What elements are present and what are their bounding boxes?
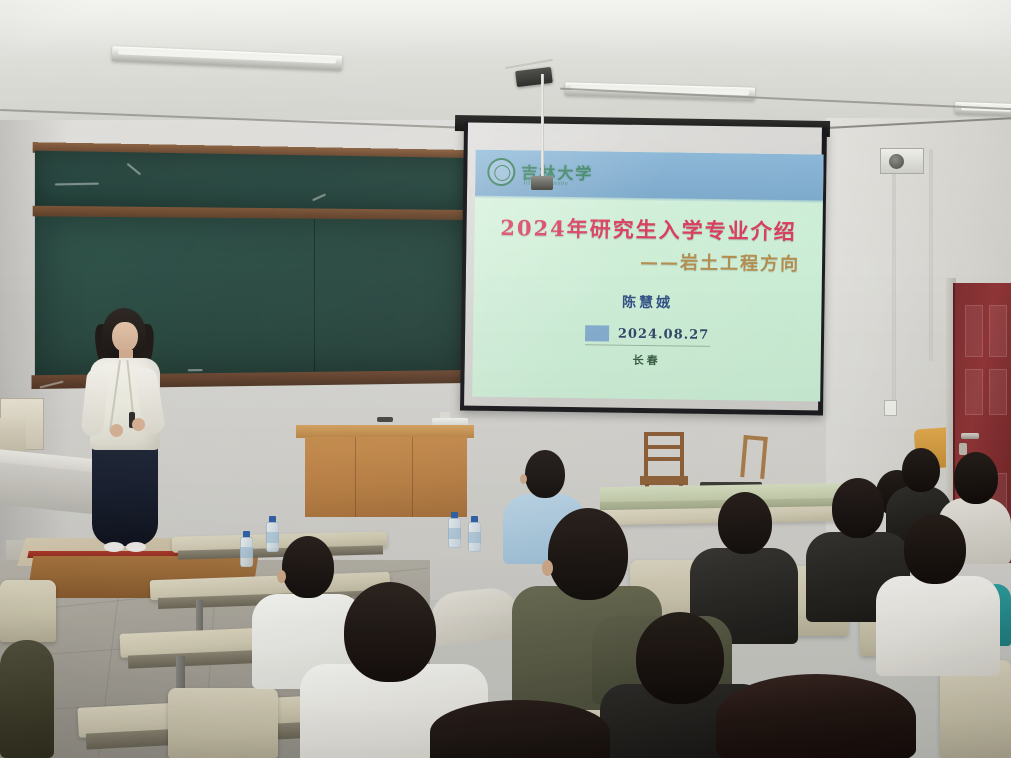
slide-date: 2024.08.27	[618, 326, 710, 342]
audience-member	[716, 674, 916, 758]
presentation-slide: 吉林大学 Jilin University 2024年研究生入学专业介绍 ——岩…	[472, 150, 823, 402]
audience-head	[904, 514, 966, 584]
storage-box	[0, 418, 26, 452]
audience-head	[525, 450, 565, 498]
wall-cable	[893, 150, 895, 405]
lectern	[305, 437, 467, 517]
presenter-face	[112, 322, 138, 352]
slide-subtitle: ——岩土工程方向	[474, 246, 822, 277]
wall-speaker	[880, 148, 924, 174]
audience-head	[716, 674, 916, 758]
seat-back	[168, 688, 278, 758]
audience-shirt	[876, 576, 1000, 676]
desk-microphone	[377, 417, 393, 422]
slide-place: 长春	[473, 350, 821, 371]
presenter-skirt	[92, 446, 158, 546]
slide-date-chip	[585, 325, 609, 341]
audience-member	[876, 514, 1000, 674]
slide-presenter-name: 陈慧娀	[473, 290, 821, 315]
projector-head	[531, 176, 553, 190]
wall-cable	[930, 150, 932, 360]
slide-date-underline	[585, 344, 710, 347]
audience-head	[344, 582, 436, 682]
audience-head	[954, 452, 998, 504]
water-bottle	[448, 512, 461, 548]
chalkboard-seam	[313, 219, 314, 374]
projection-screen: 吉林大学 Jilin University 2024年研究生入学专业介绍 ——岩…	[460, 122, 827, 415]
slide-date-row: 2024.08.27	[473, 324, 821, 345]
seat-back	[0, 580, 56, 642]
audience-member	[430, 700, 610, 758]
wall-outlet	[884, 400, 897, 416]
slide-header-band: 吉林大学 Jilin University	[475, 150, 824, 201]
presenter-standing	[84, 308, 168, 562]
audience-head	[430, 700, 610, 758]
university-seal-icon	[487, 158, 515, 186]
slide-title: 2024年研究生入学专业介绍	[474, 212, 822, 247]
water-bottle	[468, 516, 481, 552]
projector-pole	[541, 74, 544, 182]
audience-head	[718, 492, 772, 554]
audience-member	[0, 640, 54, 758]
speaker-cone-icon	[889, 154, 904, 169]
audience-head	[636, 612, 724, 704]
chalkboard-upper-panel	[35, 151, 468, 212]
door-handle[interactable]	[961, 433, 979, 439]
lecture-hall-photo: 吉林大学 Jilin University 2024年研究生入学专业介绍 ——岩…	[0, 0, 1011, 758]
